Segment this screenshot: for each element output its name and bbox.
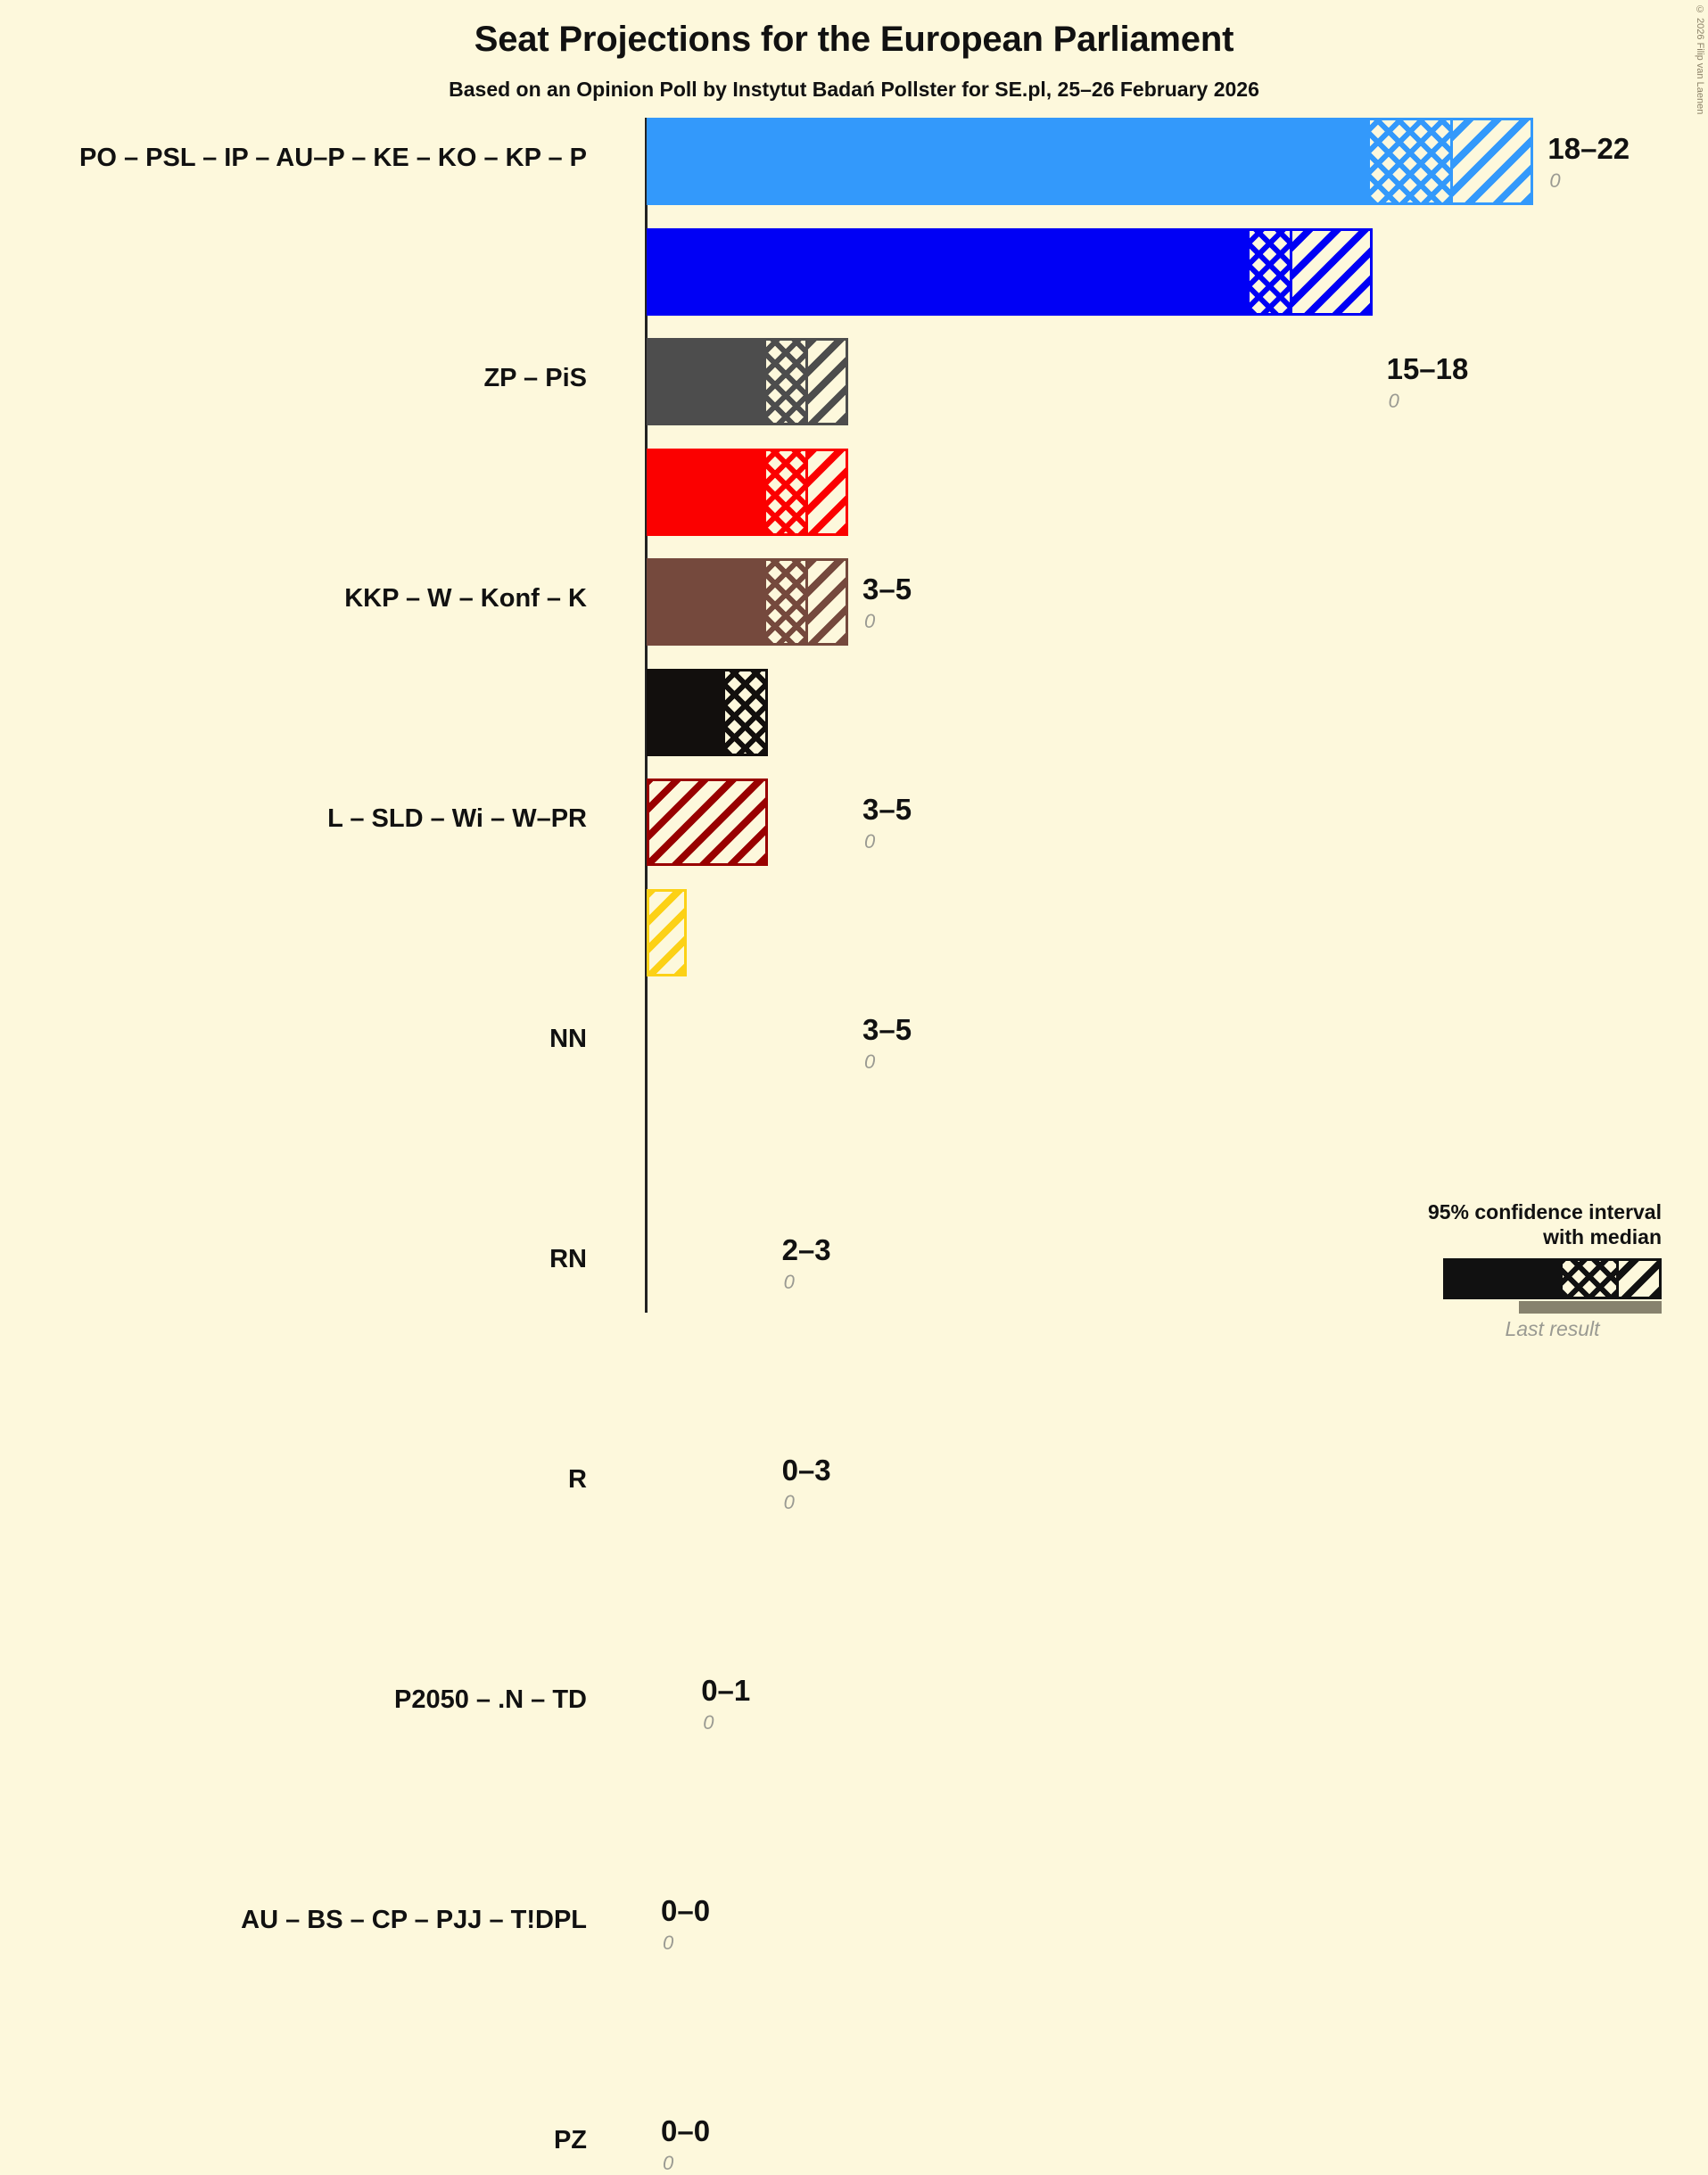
last-result-label: 0 bbox=[663, 1932, 673, 1955]
bar-row: AU – BS – CP – PJJ – T!DPL0–00 bbox=[647, 999, 1654, 1086]
value-label: 0–3 bbox=[782, 1454, 831, 1487]
bar-segment-diagonal bbox=[805, 341, 846, 423]
page-subtitle: Based on an Opinion Poll by Instytut Bad… bbox=[0, 78, 1708, 102]
bar[interactable] bbox=[647, 449, 848, 536]
bar-segment-diagonal bbox=[649, 892, 684, 974]
legend-footer: Last result bbox=[1443, 1317, 1662, 1341]
bar-row: PZ0–00 bbox=[647, 1109, 1654, 1197]
bar-segment-solid bbox=[649, 671, 725, 754]
bar-row: PO – PSL – IP – AU–P – KE – KO – KP – P1… bbox=[647, 118, 1654, 205]
legend-sample-bar bbox=[1443, 1258, 1662, 1299]
bar[interactable] bbox=[647, 118, 1533, 205]
bar-row: R0–30 bbox=[647, 779, 1654, 866]
bar-segment-diagonal bbox=[1450, 120, 1531, 202]
bar[interactable] bbox=[647, 558, 848, 646]
bar-segment-diagonal bbox=[805, 561, 846, 643]
category-label: NN bbox=[549, 1025, 587, 1054]
category-label: P2050 – .N – TD bbox=[394, 1685, 587, 1715]
bar[interactable] bbox=[647, 889, 687, 976]
plot-area: PO – PSL – IP – AU–P – KE – KO – KP – P1… bbox=[647, 118, 1654, 1313]
bar-segment-crosshatch bbox=[766, 561, 806, 643]
bar-segment-solid bbox=[649, 231, 1250, 313]
category-label: KKP – W – Konf – K bbox=[344, 584, 587, 614]
category-label: R bbox=[568, 1465, 587, 1495]
legend: 95% confidence interval with median Last… bbox=[1323, 1199, 1662, 1342]
bar-segment-diagonal bbox=[805, 451, 846, 533]
chart-root: Seat Projections for the European Parlia… bbox=[0, 0, 1708, 1368]
category-label: PO – PSL – IP – AU–P – KE – KO – KP – P bbox=[79, 144, 587, 173]
bar-segment-crosshatch bbox=[766, 341, 806, 423]
bar-segment-solid bbox=[649, 341, 766, 423]
last-result-label: 0 bbox=[784, 1491, 795, 1514]
legend-title-line2: with median bbox=[1323, 1224, 1662, 1250]
category-label: ZP – PiS bbox=[483, 364, 587, 393]
bar-row: NN3–50 bbox=[647, 558, 1654, 646]
value-label: 0–1 bbox=[701, 1674, 750, 1708]
category-label: RN bbox=[549, 1245, 587, 1274]
page-title: Seat Projections for the European Parlia… bbox=[0, 20, 1708, 60]
bar-row: L – SLD – Wi – W–PR3–50 bbox=[647, 449, 1654, 536]
value-label: 0–0 bbox=[661, 1894, 710, 1928]
bar[interactable] bbox=[647, 669, 768, 756]
bar-segment-crosshatch bbox=[725, 671, 764, 754]
bar-row: P2050 – .N – TD0–10 bbox=[647, 889, 1654, 976]
last-result-label: 0 bbox=[784, 1271, 795, 1294]
bar-segment-crosshatch bbox=[766, 451, 806, 533]
bar-row: KKP – W – Konf – K3–50 bbox=[647, 338, 1654, 425]
value-label: 18–22 bbox=[1547, 132, 1630, 166]
legend-title-line1: 95% confidence interval bbox=[1323, 1199, 1662, 1225]
bar-segment-solid bbox=[649, 120, 1370, 202]
legend-seg-crosshatch bbox=[1563, 1261, 1616, 1297]
bar-segment-solid bbox=[649, 561, 766, 643]
copyright-notice: © 2026 Filip van Laenen bbox=[1695, 4, 1705, 114]
last-result-label: 0 bbox=[1549, 169, 1560, 193]
bar-row: ZP – PiS15–180 bbox=[647, 228, 1654, 316]
category-label: PZ bbox=[554, 2126, 587, 2155]
value-label: 0–0 bbox=[661, 2114, 710, 2148]
bar-segment-diagonal bbox=[649, 781, 765, 863]
category-label: AU – BS – CP – PJJ – T!DPL bbox=[241, 1906, 587, 1935]
value-label: 2–3 bbox=[782, 1233, 831, 1267]
bar[interactable] bbox=[647, 228, 1373, 316]
bar-segment-solid bbox=[649, 451, 766, 533]
legend-seg-diagonal bbox=[1616, 1261, 1659, 1297]
category-label: L – SLD – Wi – W–PR bbox=[327, 804, 587, 834]
bar-segment-diagonal bbox=[1290, 231, 1370, 313]
bar-row: RN2–30 bbox=[647, 669, 1654, 756]
legend-last-result-bar bbox=[1519, 1301, 1662, 1314]
bar[interactable] bbox=[647, 338, 848, 425]
bar[interactable] bbox=[647, 779, 768, 866]
bar-segment-crosshatch bbox=[1250, 231, 1290, 313]
legend-seg-solid bbox=[1446, 1261, 1563, 1297]
bar-segment-crosshatch bbox=[1370, 120, 1450, 202]
last-result-label: 0 bbox=[703, 1711, 714, 1734]
last-result-label: 0 bbox=[663, 2152, 673, 2175]
